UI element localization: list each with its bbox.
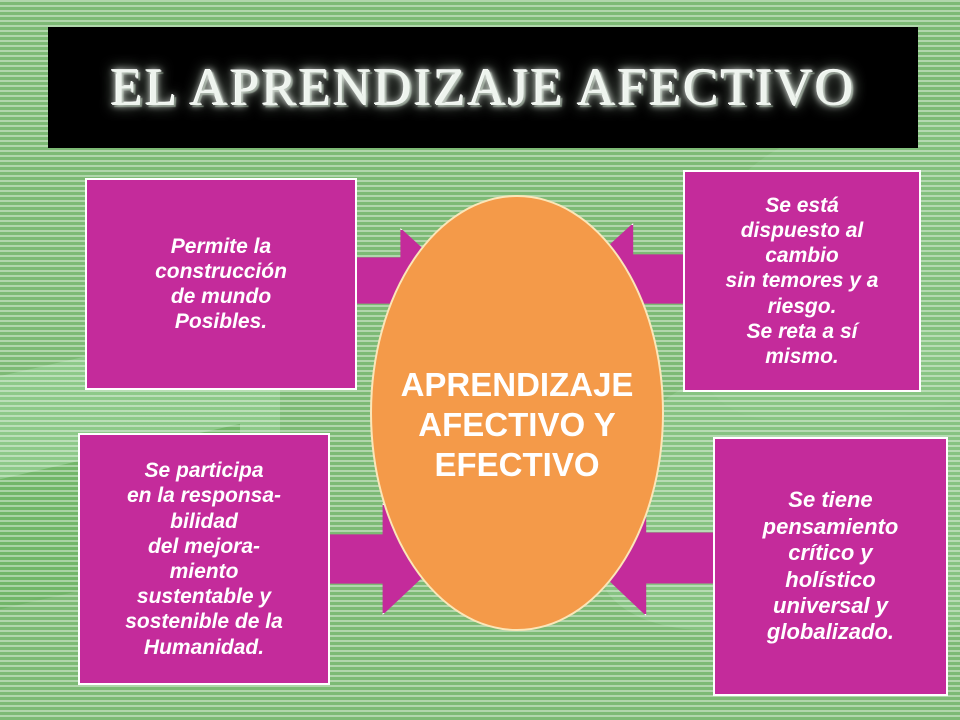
box-bottom-right: Se tiene pensamiento crítico y holístico… — [713, 437, 948, 696]
box-bottom-left: Se participa en la responsa- bilidad del… — [78, 433, 330, 685]
center-oval-node: APRENDIZAJE AFECTIVO Y EFECTIVO — [370, 195, 664, 631]
center-oval-label: APRENDIZAJE AFECTIVO Y EFECTIVO — [401, 365, 634, 486]
title-banner: EL APRENDIZAJE AFECTIVO — [48, 27, 918, 148]
box-top-left: Permite la construcción de mundo Posible… — [85, 178, 357, 390]
slide-canvas: EL APRENDIZAJE AFECTIVO APRENDIZAJE AFEC… — [0, 0, 960, 720]
box-top-right: Se está dispuesto al cambio sin temores … — [683, 170, 921, 392]
page-title: EL APRENDIZAJE AFECTIVO — [111, 58, 856, 118]
